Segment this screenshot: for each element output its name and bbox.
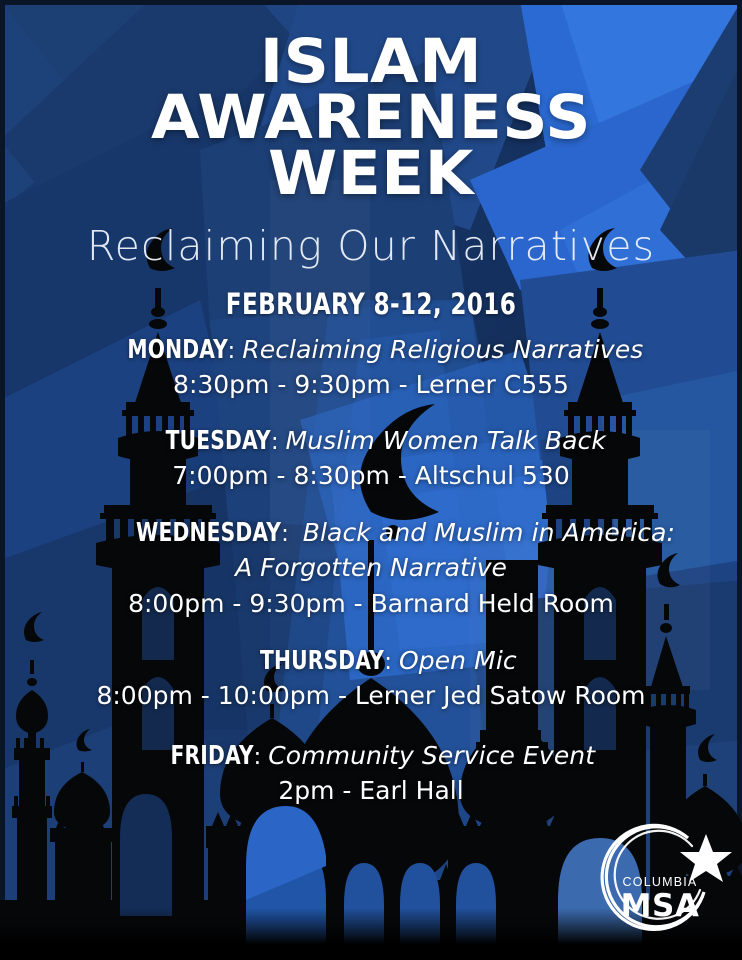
poster-subtitle: Reclaiming Our Narratives — [0, 226, 742, 267]
date-range: FEBRUARY 8-12, 2016 — [74, 287, 668, 321]
event-separator: : — [254, 744, 262, 770]
event-heading: FRIDAY: Community Service Event — [0, 740, 742, 773]
event-separator: : — [384, 649, 392, 675]
event-separator: : — [271, 429, 279, 455]
logo-org-main: MSA — [621, 888, 700, 924]
event-heading: THURSDAY: Open Mic — [0, 645, 742, 678]
event-heading: WEDNESDAY: Black and Muslim in America: — [0, 517, 742, 550]
event-separator: : — [228, 338, 236, 364]
event-detail: 2pm - Earl Hall — [0, 773, 742, 809]
event-name-line2: A Forgotten Narrative — [0, 550, 742, 586]
page-title: ISLAM AWARENESS WEEK — [62, 34, 680, 202]
list-item: THURSDAY: Open Mic 8:00pm - 10:00pm - Le… — [0, 645, 742, 714]
list-item: MONDAY: Reclaiming Religious Narratives … — [0, 334, 742, 403]
event-detail: 7:00pm - 8:30pm - Altschul 530 — [0, 458, 742, 494]
event-name: Muslim Women Talk Back — [286, 426, 606, 455]
logo-org-top: COLUMBIA — [623, 875, 698, 889]
event-detail: 8:00pm - 9:30pm - Barnard Held Room — [0, 586, 742, 622]
title-line-1: ISLAM AWARENESS — [62, 34, 680, 146]
list-item: FRIDAY: Community Service Event 2pm - Ea… — [0, 740, 742, 809]
event-name: Open Mic — [399, 646, 517, 675]
event-name: Reclaiming Religious Narratives — [242, 335, 643, 364]
schedule-list: MONDAY: Reclaiming Religious Narratives … — [0, 334, 742, 824]
event-detail: 8:30pm - 9:30pm - Lerner C555 — [0, 367, 742, 403]
event-day: FRIDAY — [170, 741, 253, 772]
poster-canvas: ISLAM AWARENESS WEEK Reclaiming Our Narr… — [0, 0, 742, 960]
event-day: THURSDAY — [260, 646, 384, 677]
poster-header: ISLAM AWARENESS WEEK Reclaiming Our Narr… — [0, 34, 742, 321]
list-item: WEDNESDAY: Black and Muslim in America: … — [0, 517, 742, 621]
event-name: Black and Muslim in America: — [303, 518, 675, 547]
title-line-2: WEEK — [62, 146, 680, 202]
event-day: WEDNESDAY — [136, 518, 281, 549]
event-day: MONDAY — [127, 335, 228, 366]
event-detail: 8:00pm - 10:00pm - Lerner Jed Satow Room — [0, 678, 742, 714]
event-heading: MONDAY: Reclaiming Religious Narratives — [0, 334, 742, 367]
list-item: TUESDAY: Muslim Women Talk Back 7:00pm -… — [0, 425, 742, 494]
columbia-msa-logo: COLUMBIA MSA — [596, 820, 734, 950]
event-day: TUESDAY — [166, 426, 271, 457]
event-separator: : — [281, 521, 289, 547]
event-heading: TUESDAY: Muslim Women Talk Back — [0, 425, 742, 458]
event-name: Community Service Event — [268, 741, 595, 770]
